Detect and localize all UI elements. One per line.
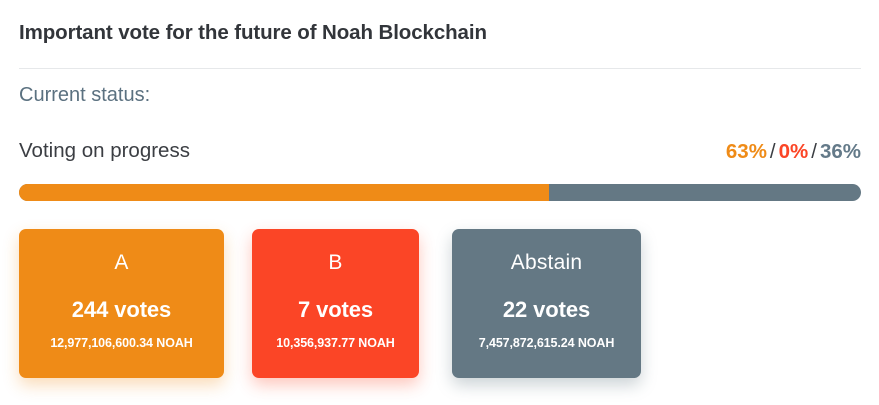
vote-card-amount: 7,457,872,615.24 NOAH <box>452 336 641 351</box>
current-status-label: Current status: <box>19 84 150 107</box>
progress-segment-option-a <box>19 184 549 201</box>
vote-card-votes: 244 votes <box>19 297 224 323</box>
vote-card-amount: 12,977,106,600.34 NOAH <box>19 336 224 351</box>
vote-card-option-label: B <box>252 251 419 275</box>
page-title: Important vote for the future of Noah Bl… <box>19 21 487 45</box>
vote-card-option-label: Abstain <box>452 251 641 275</box>
vote-card-option-label: A <box>19 251 224 275</box>
vote-progress-bar <box>19 184 861 201</box>
percent-option-a: 63% <box>726 140 767 163</box>
vote-card-votes: 22 votes <box>452 297 641 323</box>
percent-separator-2: / <box>808 140 820 163</box>
percent-abstain: 36% <box>820 140 861 163</box>
vote-panel-inner: Important vote for the future of Noah Bl… <box>19 0 861 405</box>
percentage-summary: 63%/0%/36% <box>726 139 861 164</box>
percent-option-b: 0% <box>779 140 809 163</box>
vote-option-cards: A 244 votes 12,977,106,600.34 NOAH B 7 v… <box>19 229 861 379</box>
vote-card-option-b[interactable]: B 7 votes 10,356,937.77 NOAH <box>252 229 419 378</box>
status-row: Voting on progress 63%/0%/36% <box>19 139 861 169</box>
vote-card-amount: 10,356,937.77 NOAH <box>252 336 419 351</box>
header-divider <box>19 68 861 69</box>
status-value: Voting on progress <box>19 139 190 163</box>
vote-panel: Important vote for the future of Noah Bl… <box>0 0 879 405</box>
vote-card-option-a[interactable]: A 244 votes 12,977,106,600.34 NOAH <box>19 229 224 378</box>
percent-separator-1: / <box>767 140 779 163</box>
vote-card-abstain[interactable]: Abstain 22 votes 7,457,872,615.24 NOAH <box>452 229 641 378</box>
vote-card-votes: 7 votes <box>252 297 419 323</box>
